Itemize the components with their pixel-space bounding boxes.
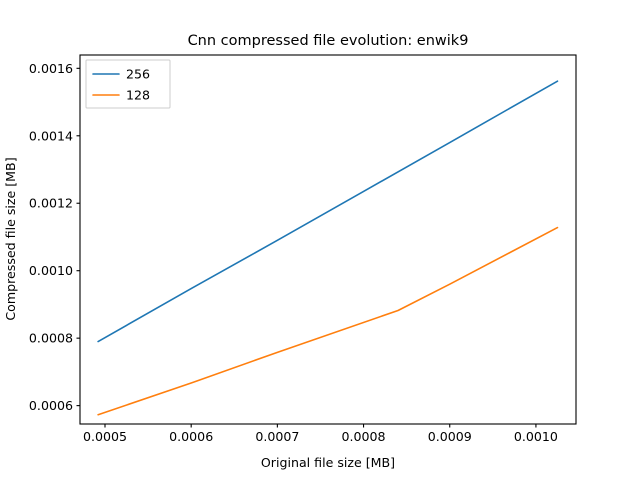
chart-title: Cnn compressed file evolution: enwik9	[188, 33, 469, 49]
y-tick-label: 0.0006	[29, 398, 73, 413]
x-tick-label: 0.0007	[255, 429, 299, 444]
x-tick-label: 0.0005	[83, 429, 127, 444]
chart-legend: 256128	[86, 60, 170, 108]
y-tick-label: 0.0012	[29, 196, 73, 211]
y-tick-label: 0.0016	[29, 61, 73, 76]
x-tick-label: 0.0008	[342, 429, 386, 444]
line-chart: Cnn compressed file evolution: enwik9 Or…	[0, 0, 640, 480]
x-axis-ticks: 0.00050.00060.00070.00080.00090.0010	[83, 424, 558, 444]
x-tick-label: 0.0010	[514, 429, 558, 444]
y-axis-label: Compressed file size [MB]	[3, 157, 18, 320]
y-tick-label: 0.0014	[29, 128, 73, 143]
x-tick-label: 0.0009	[428, 429, 472, 444]
y-axis-ticks: 0.00060.00080.00100.00120.00140.0016	[29, 61, 80, 413]
x-axis-label: Original file size [MB]	[261, 455, 395, 470]
y-tick-label: 0.0010	[29, 263, 73, 278]
x-tick-label: 0.0006	[169, 429, 213, 444]
legend-label-128: 128	[126, 88, 150, 103]
plot-area-background	[80, 55, 576, 424]
figure-canvas: Cnn compressed file evolution: enwik9 Or…	[0, 0, 640, 480]
y-tick-label: 0.0008	[29, 331, 73, 346]
legend-label-256: 256	[126, 67, 150, 82]
